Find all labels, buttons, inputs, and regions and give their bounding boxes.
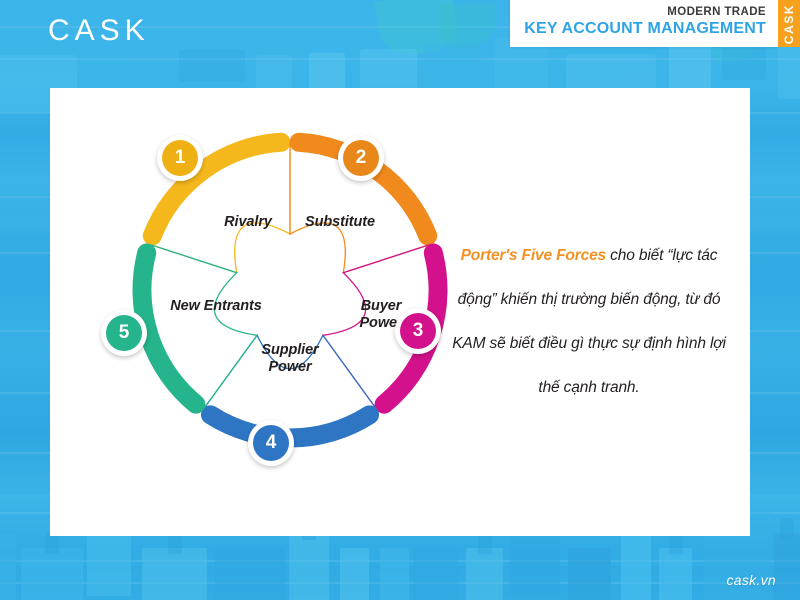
cask-side-tab: CASK xyxy=(778,0,800,47)
program-badge-line1: MODERN TRADE xyxy=(667,5,766,19)
content-card: Rivalry Substitute Buyer Power Supplier … xyxy=(50,88,750,536)
segment-label-substitute: Substitute xyxy=(288,214,392,231)
segment-badge-4-number: 4 xyxy=(253,425,289,461)
porters-five-forces-diagram: Rivalry Substitute Buyer Power Supplier … xyxy=(110,110,470,470)
segment-badge-2-number: 2 xyxy=(343,140,379,176)
segment-badge-4: 4 xyxy=(248,420,294,466)
segment-badge-1-number: 1 xyxy=(162,140,198,176)
segment-badge-2: 2 xyxy=(338,135,384,181)
segment-label-new-entrants: New Entrants xyxy=(170,298,262,315)
website-url: cask.vn xyxy=(726,572,776,588)
segment-badge-1: 1 xyxy=(157,135,203,181)
segment-badge-5: 5 xyxy=(101,310,147,356)
segment-badge-3: 3 xyxy=(395,308,441,354)
segment-label-rivalry: Rivalry xyxy=(200,214,296,231)
segment-badge-5-number: 5 xyxy=(106,315,142,351)
body-copy-rest: cho biết “lực tác động” khiến thị trường… xyxy=(452,247,726,397)
segment-badge-3-number: 3 xyxy=(400,313,436,349)
body-copy-highlight: Porter's Five Forces xyxy=(461,247,606,264)
body-copy: Porter's Five Forces cho biết “lực tác đ… xyxy=(450,234,728,411)
segment-label-supplier-power: Supplier Power xyxy=(240,342,340,376)
cask-logo: CASK xyxy=(48,14,150,48)
program-badge: MODERN TRADE KEY ACCOUNT MANAGEMENT xyxy=(510,0,778,47)
program-badge-line2: KEY ACCOUNT MANAGEMENT xyxy=(524,19,766,38)
wheel-arc-5 xyxy=(142,253,196,404)
cask-side-tab-label: CASK xyxy=(782,3,796,43)
